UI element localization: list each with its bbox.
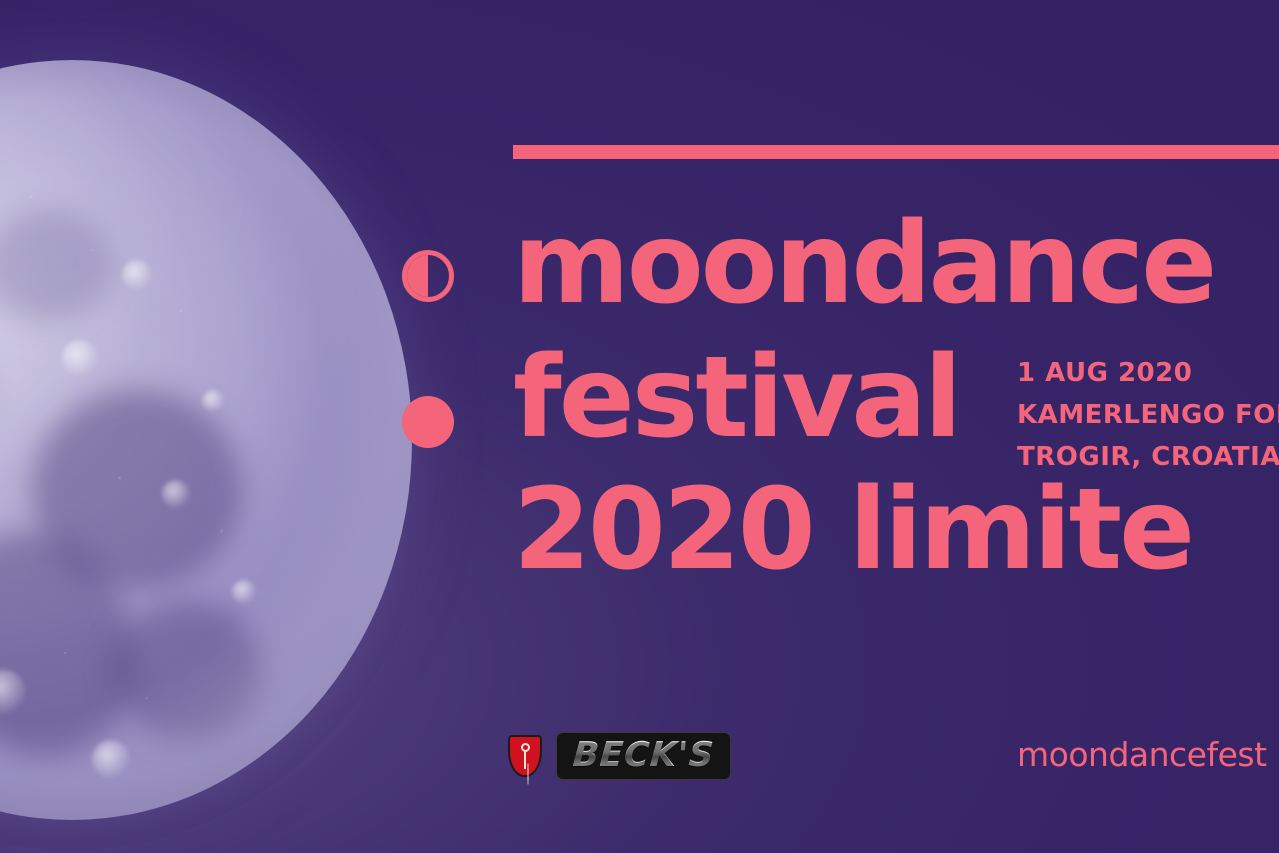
moon-image [0, 60, 412, 820]
moon-crater [202, 390, 224, 412]
event-details: 1 AUG 2020 KAMERLENGO FORT TROGIR, CROAT… [1017, 352, 1279, 478]
moon-sphere [0, 60, 412, 820]
key-icon [519, 743, 532, 769]
website-url: moondancefest [1017, 735, 1267, 775]
half-moon-icon [402, 250, 454, 302]
becks-wordmark: BECK'S [572, 738, 716, 772]
moon-crater [122, 260, 152, 290]
moon-crater [0, 670, 26, 714]
becks-wordmark-plate: BECK'S [556, 732, 731, 780]
becks-shield-key-icon [508, 735, 542, 777]
moon-surface-texture [0, 60, 412, 820]
moon-mare [32, 390, 242, 590]
moon-crater [62, 340, 98, 376]
full-moon-icon [402, 396, 454, 448]
moon-limb-glow [0, 60, 412, 820]
festival-poster: moondance festival 2020 limite 1 AUG 202… [0, 0, 1279, 853]
moon-mare [0, 210, 112, 320]
sponsor-logo-becks: BECK'S [508, 732, 731, 780]
moon-crater [92, 740, 130, 778]
moon-crater [232, 580, 256, 604]
event-date: 1 AUG 2020 [1017, 352, 1279, 394]
event-location: TROGIR, CROATIA [1017, 436, 1279, 478]
moon-edge-fade [0, 30, 442, 850]
title-line-2020-limited: 2020 limite [513, 471, 1279, 589]
moon-mare [0, 506, 163, 783]
moon-mare [112, 600, 262, 740]
title-line-moondance: moondance [513, 205, 1279, 323]
moon-crater [162, 480, 190, 508]
pink-divider-bar [513, 145, 1279, 159]
event-venue: KAMERLENGO FORT [1017, 394, 1279, 436]
